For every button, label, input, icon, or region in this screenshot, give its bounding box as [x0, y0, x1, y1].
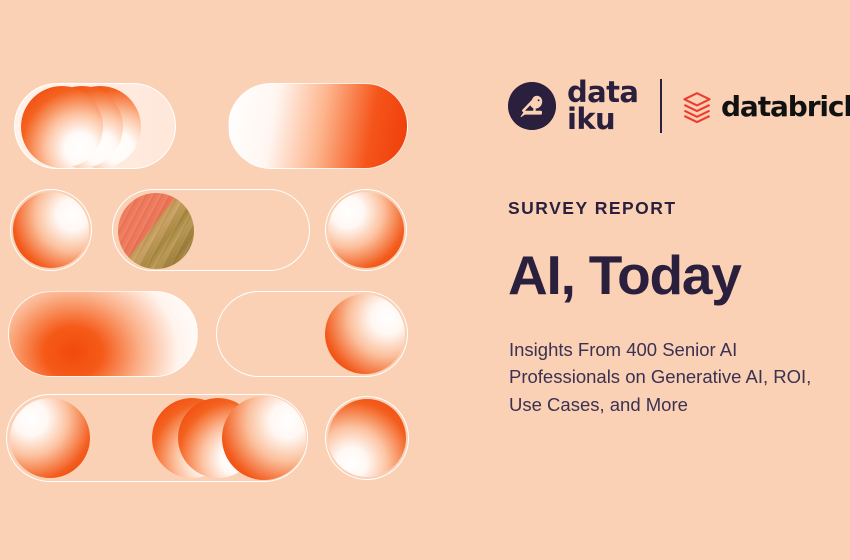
report-cover: data iku databricks SURVEY REPORT A [0, 0, 850, 560]
outline-circle-row2-right [325, 189, 407, 271]
dataiku-wordmark: data iku [567, 79, 638, 133]
orb-row4-right [328, 399, 406, 477]
orb-row3-toggle [325, 294, 405, 374]
report-eyebrow: SURVEY REPORT [508, 198, 677, 219]
outline-circle-row4-right [325, 396, 409, 480]
logo-lockup: data iku databricks [508, 73, 850, 139]
dataiku-wordmark-line2: iku [567, 106, 638, 133]
dataiku-logo: data iku [508, 79, 638, 133]
orb-row2-left [13, 192, 89, 268]
orb-row1-a [21, 86, 103, 168]
databricks-logo: databricks [682, 90, 850, 123]
outline-pill-row1 [14, 83, 176, 169]
databricks-wordmark: databricks [721, 90, 850, 123]
bird-on-perch-icon [508, 82, 556, 130]
gradient-pill-row1 [228, 83, 408, 169]
orb-row2-right [328, 192, 404, 268]
page-title: AI, Today [508, 248, 741, 303]
gradient-pill-row3 [8, 291, 198, 377]
orb-row4-cluster-c [222, 396, 306, 480]
outline-circle-row2-left [10, 189, 92, 271]
photo-circle-row2 [118, 193, 194, 269]
stacked-layers-icon [682, 90, 712, 123]
cover-content-panel: data iku databricks SURVEY REPORT A [508, 0, 850, 560]
decorative-graphic-panel [0, 0, 430, 560]
logo-divider [660, 79, 662, 133]
report-subtitle: Insights From 400 Senior AI Professional… [509, 336, 839, 418]
orb-row4-left [10, 398, 90, 478]
